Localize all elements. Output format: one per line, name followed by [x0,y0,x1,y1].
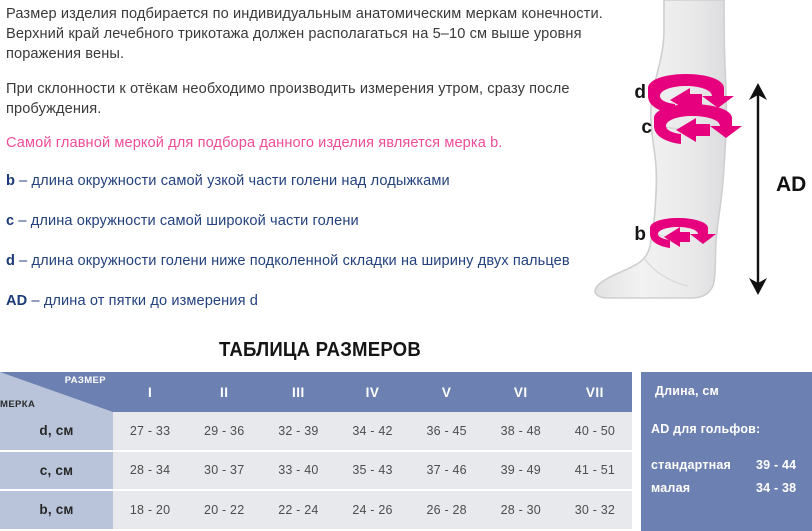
measurement-text-c: длина окружности самой широкой части гол… [31,213,359,229]
intro-paragraph-2: При склонности к отёкам необходимо произ… [6,79,606,119]
table-cell: 26 - 28 [410,491,484,529]
table-row-cells-c: 28 - 34 30 - 37 33 - 40 35 - 43 37 - 46 … [113,452,632,492]
measurement-text-ad: длина от пятки до измерения d [44,293,258,309]
table-cell: 36 - 45 [410,412,484,450]
table-col-header-4: IV [335,372,409,412]
table-cell: 20 - 22 [187,491,261,529]
diagram-label-d: d [634,82,646,103]
measurement-text-d: длина окружности голени ниже подколенной… [32,253,570,269]
panel-row-standard-name: стандартная [651,458,731,472]
measurement-key-c: c [6,213,14,229]
table-cell: 29 - 36 [187,412,261,450]
table-col-header-2: II [187,372,261,412]
table-cell: 40 - 50 [558,412,632,450]
measurement-dash-ad: – [27,293,44,309]
table-cell: 33 - 40 [261,452,335,490]
table-cell: 18 - 20 [113,491,187,529]
measurement-key-ad: AD [6,293,27,309]
table-cell: 27 - 33 [113,412,187,450]
panel-row-standard: стандартная 39 - 44 [651,458,806,472]
corner-merka-label: МЕРКА [0,399,35,410]
table-row-label-d: d, см [0,412,113,452]
panel-row-standard-value: 39 - 44 [756,458,806,472]
table-cell: 28 - 34 [113,452,187,490]
table-row: b, см 18 - 20 20 - 22 22 - 24 24 - 26 26… [0,491,632,531]
table-cell: 38 - 48 [484,412,558,450]
panel-row-small: малая 34 - 38 [651,481,806,495]
measurement-item-b: b – длина окружности самой узкой части г… [6,171,606,191]
panel-row-small-name: малая [651,481,690,495]
table-cell: 37 - 46 [410,452,484,490]
table-row: c, см 28 - 34 30 - 37 33 - 40 35 - 43 37… [0,452,632,492]
measurement-item-d: d – длина окружности голени ниже подколе… [6,251,606,271]
table-cell: 28 - 30 [484,491,558,529]
size-table: РАЗМЕР МЕРКА I II III IV V VI VII d, см … [0,372,632,531]
diagram-label-ad: AD [776,173,806,196]
diagram-label-b: b [634,224,646,245]
table-col-header-3: III [261,372,335,412]
table-corner-cell: РАЗМЕР МЕРКА [0,372,113,412]
leg-diagram-svg: d c b AD [592,0,812,330]
table-row-label-b: b, см [0,491,113,531]
measurement-dash-d: – [15,253,32,269]
table-cell: 35 - 43 [335,452,409,490]
panel-subtitle: AD для гольфов: [651,422,760,436]
table-cell: 22 - 24 [261,491,335,529]
measurement-dash-b: – [15,173,32,189]
intro-paragraph-1: Размер изделия подбирается по индивидуал… [6,4,606,65]
table-cell: 41 - 51 [558,452,632,490]
table-header-row: РАЗМЕР МЕРКА I II III IV V VI VII [0,372,632,412]
ad-dimension-arrow-icon [749,83,767,295]
table-row: d, см 27 - 33 29 - 36 32 - 39 34 - 42 36… [0,412,632,452]
instructions-column: Размер изделия подбирается по индивидуал… [6,4,606,311]
table-cell: 34 - 42 [335,412,409,450]
measurement-dash-c: – [14,213,31,229]
measurement-key-d: d [6,253,15,269]
table-cell: 30 - 32 [558,491,632,529]
panel-row-small-value: 34 - 38 [756,481,806,495]
measurement-key-b: b [6,173,15,189]
table-row-label-c: c, см [0,452,113,492]
table-cell: 30 - 37 [187,452,261,490]
table-col-header-7: VII [558,372,632,412]
highlight-note: Самой главной меркой для подбора данного… [6,133,606,153]
measurement-text-b: длина окружности самой узкой части голен… [32,173,450,189]
corner-size-label: РАЗМЕР [65,375,106,386]
table-cell: 32 - 39 [261,412,335,450]
size-chart-page: Размер изделия подбирается по индивидуал… [0,0,812,531]
table-col-header-6: VI [484,372,558,412]
table-cell: 39 - 49 [484,452,558,490]
table-row-cells-d: 27 - 33 29 - 36 32 - 39 34 - 42 36 - 45 … [113,412,632,452]
diagram-label-c: c [641,117,652,138]
table-row-cells-b: 18 - 20 20 - 22 22 - 24 24 - 26 26 - 28 … [113,491,632,531]
page-title: ТАБЛИЦА РАЗМЕРОВ [22,339,617,362]
measurement-item-ad: AD – длина от пятки до измерения d [6,291,606,311]
panel-title: Длина, см [655,384,719,398]
leg-diagram: d c b AD [592,0,812,330]
table-col-header-1: I [113,372,187,412]
leg-silhouette-icon [595,0,726,298]
length-info-panel: Длина, см AD для гольфов: стандартная 39… [641,372,812,531]
table-col-header-5: V [410,372,484,412]
measurement-item-c: c – длина окружности самой широкой части… [6,211,606,231]
table-cell: 24 - 26 [335,491,409,529]
